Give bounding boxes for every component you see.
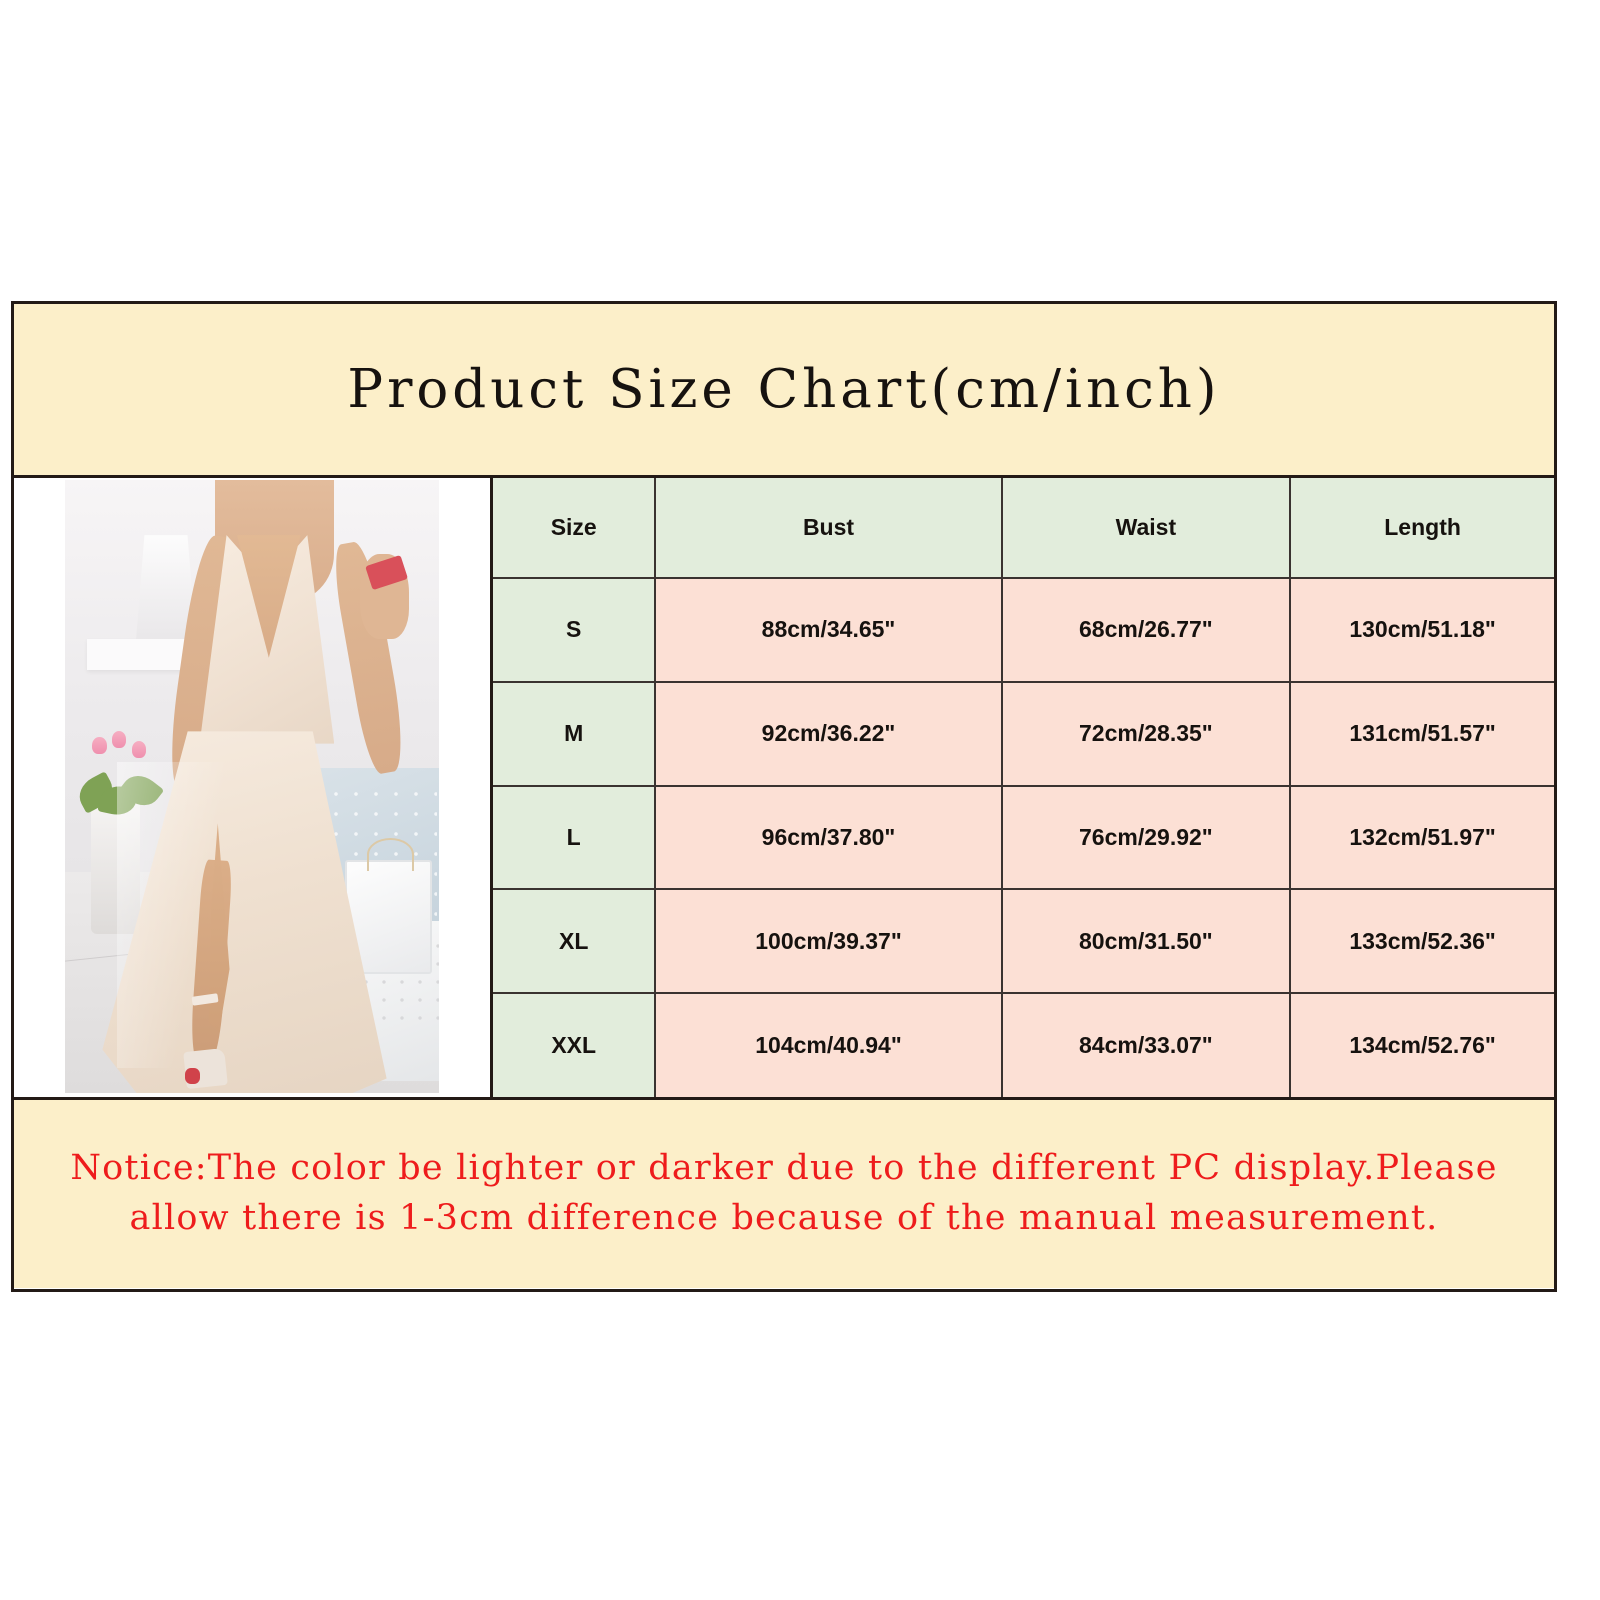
cell-size: XL xyxy=(493,889,655,993)
notice-band: Notice:The color be lighter or darker du… xyxy=(14,1097,1554,1288)
table-row: M 92cm/36.22" 72cm/28.35" 131cm/51.57" xyxy=(493,682,1554,786)
cell-length: 131cm/51.57" xyxy=(1290,682,1554,786)
cell-length: 134cm/52.76" xyxy=(1290,993,1554,1097)
photo-tulip xyxy=(92,737,106,754)
column-header-bust: Bust xyxy=(655,478,1001,578)
column-header-size: Size xyxy=(493,478,655,578)
cell-length: 132cm/51.97" xyxy=(1290,786,1554,890)
cell-bust: 100cm/39.37" xyxy=(655,889,1001,993)
title-band: Product Size Chart(cm/inch) xyxy=(14,304,1554,478)
column-header-waist: Waist xyxy=(1002,478,1291,578)
product-image-pane xyxy=(14,478,493,1097)
size-table: Size Bust Waist Length S 88cm/34.65" 68c… xyxy=(493,478,1554,1097)
cell-waist: 72cm/28.35" xyxy=(1002,682,1291,786)
cell-bust: 96cm/37.80" xyxy=(655,786,1001,890)
page-title: Product Size Chart(cm/inch) xyxy=(347,359,1220,420)
cell-waist: 80cm/31.50" xyxy=(1002,889,1291,993)
column-header-length: Length xyxy=(1290,478,1554,578)
table-row: S 88cm/34.65" 68cm/26.77" 130cm/51.18" xyxy=(493,578,1554,682)
cell-size: XXL xyxy=(493,993,655,1097)
cell-bust: 104cm/40.94" xyxy=(655,993,1001,1097)
cell-length: 133cm/52.36" xyxy=(1290,889,1554,993)
size-table-pane: Size Bust Waist Length S 88cm/34.65" 68c… xyxy=(493,478,1554,1097)
cell-waist: 76cm/29.92" xyxy=(1002,786,1291,890)
cell-size: S xyxy=(493,578,655,682)
cell-waist: 84cm/33.07" xyxy=(1002,993,1291,1097)
photo-tulip xyxy=(112,731,126,748)
cell-length: 130cm/51.18" xyxy=(1290,578,1554,682)
table-row: XXL 104cm/40.94" 84cm/33.07" 134cm/52.76… xyxy=(493,993,1554,1097)
notice-text: Notice:The color be lighter or darker du… xyxy=(38,1144,1530,1243)
cell-waist: 68cm/26.77" xyxy=(1002,578,1291,682)
photo-toenail xyxy=(185,1068,200,1084)
size-chart-frame: Product Size Chart(cm/inch) xyxy=(11,301,1557,1292)
photo-dress-highlight xyxy=(117,762,341,1069)
chart-body: Size Bust Waist Length S 88cm/34.65" 68c… xyxy=(14,478,1554,1097)
photo-tulip xyxy=(132,741,146,758)
cell-bust: 92cm/36.22" xyxy=(655,682,1001,786)
cell-bust: 88cm/34.65" xyxy=(655,578,1001,682)
table-row: XL 100cm/39.37" 80cm/31.50" 133cm/52.36" xyxy=(493,889,1554,993)
product-photo xyxy=(65,480,439,1093)
cell-size: L xyxy=(493,786,655,890)
cell-size: M xyxy=(493,682,655,786)
table-row: L 96cm/37.80" 76cm/29.92" 132cm/51.97" xyxy=(493,786,1554,890)
table-header-row: Size Bust Waist Length xyxy=(493,478,1554,578)
